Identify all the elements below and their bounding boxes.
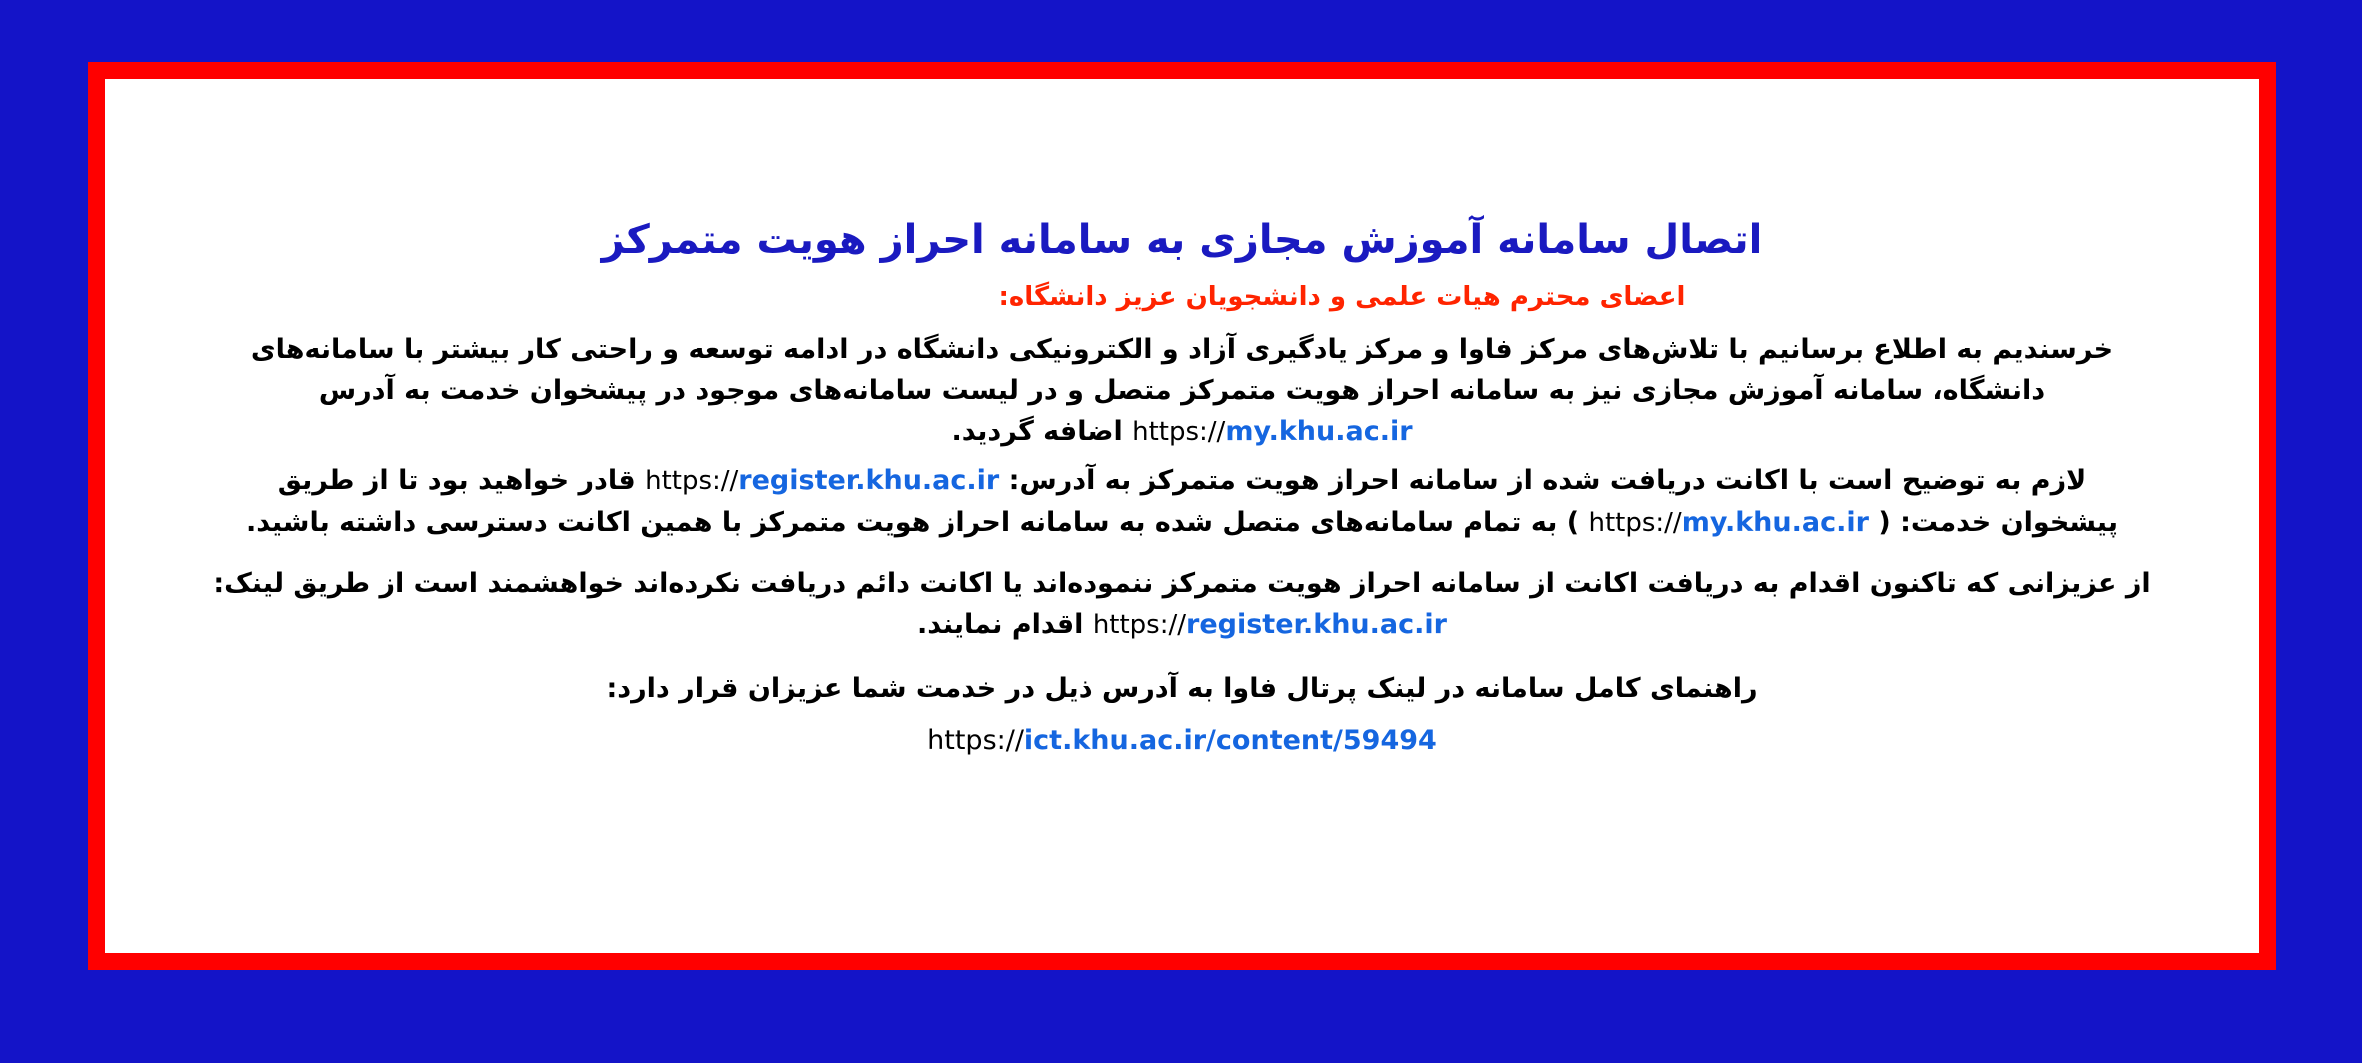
paragraph-two: لازم به توضیح است با اکانت دریافت شده از… bbox=[145, 452, 2219, 543]
red-border-frame: اتصال سامانه آموزش مجازی به سامانه احراز… bbox=[88, 62, 2276, 970]
url-protocol: https:// bbox=[1132, 417, 1225, 447]
url-protocol: https:// bbox=[1589, 508, 1682, 538]
register-url-inline-1: https://register.khu.ac.ir bbox=[645, 465, 999, 496]
paragraph-three-text-after: اقدام نمایند. bbox=[917, 609, 1083, 640]
link-register-khu-ac-ir-2[interactable]: register.khu.ac.ir bbox=[1186, 609, 1447, 640]
paragraph-two-line-one: لازم به توضیح است با اکانت دریافت شده از… bbox=[1009, 465, 2087, 496]
poster-canvas: اتصال سامانه آموزش مجازی به سامانه احراز… bbox=[0, 0, 2362, 1063]
my-portal-url-inline-2: https://my.khu.ac.ir bbox=[1589, 507, 1869, 538]
audience-salutation: اعضای محترم هیات علمی و دانشجویان عزیز د… bbox=[145, 265, 2219, 315]
paragraph-four: راهنمای کامل سامانه در لینک پرتال فاوا ب… bbox=[145, 646, 2219, 709]
url-protocol: https:// bbox=[1093, 610, 1186, 640]
paragraph-one: خرسندیم به اطلاع برسانیم با تلاش‌های مرک… bbox=[145, 315, 2219, 453]
guide-url-line: https://ict.khu.ac.ir/content/59494 bbox=[145, 709, 2219, 756]
paragraph-three-text-before: از عزیزانی که تاکنون اقدام به دریافت اکا… bbox=[213, 568, 2150, 599]
paragraph-three: از عزیزانی که تاکنون اقدام به دریافت اکا… bbox=[145, 543, 2219, 646]
url-protocol: https:// bbox=[645, 466, 738, 496]
link-register-khu-ac-ir[interactable]: register.khu.ac.ir bbox=[738, 465, 999, 496]
page-title: اتصال سامانه آموزش مجازی به سامانه احراز… bbox=[145, 79, 2219, 265]
my-portal-url-inline-1: https://my.khu.ac.ir bbox=[1132, 416, 1412, 447]
announcement-content: اتصال سامانه آموزش مجازی به سامانه احراز… bbox=[105, 79, 2259, 756]
paragraph-two-after: ) به تمام سامانه‌های متصل شده به سامانه … bbox=[246, 507, 1579, 538]
url-protocol: https:// bbox=[927, 725, 1024, 756]
register-url-inline-2: https://register.khu.ac.ir bbox=[1093, 609, 1447, 640]
paragraph-one-text-after: اضافه گردید. bbox=[951, 416, 1122, 447]
link-my-khu-ac-ir-2[interactable]: my.khu.ac.ir bbox=[1682, 507, 1869, 538]
link-my-khu-ac-ir[interactable]: my.khu.ac.ir bbox=[1225, 416, 1412, 447]
link-ict-khu-guide[interactable]: ict.khu.ac.ir/content/59494 bbox=[1024, 725, 1437, 756]
announcement-card: اتصال سامانه آموزش مجازی به سامانه احراز… bbox=[105, 79, 2259, 953]
paragraph-one-text-before: خرسندیم به اطلاع برسانیم با تلاش‌های مرک… bbox=[251, 334, 2113, 406]
